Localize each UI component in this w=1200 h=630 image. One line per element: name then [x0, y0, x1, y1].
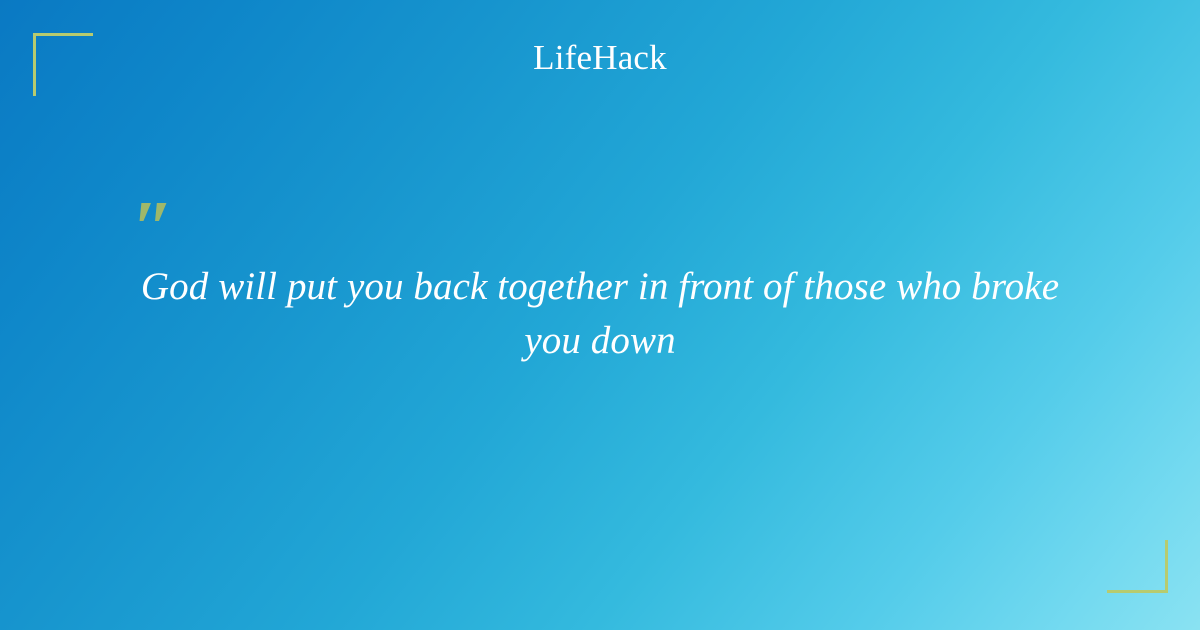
quote-text: God will put you back together in front … — [100, 260, 1100, 368]
corner-bracket-right-line — [1165, 540, 1168, 593]
corner-bracket-top-line — [33, 33, 93, 36]
quotation-mark-icon: ″ — [132, 190, 1100, 248]
brand-header: LifeHack — [0, 40, 1200, 75]
corner-bracket-bottom-right-icon — [1107, 540, 1168, 593]
corner-bracket-bottom-line — [1107, 590, 1168, 593]
quote-card: LifeHack ″ God will put you back togethe… — [0, 0, 1200, 630]
brand-logo-lifehack: LifeHack — [533, 40, 667, 75]
quote-block: ″ God will put you back together in fron… — [100, 190, 1100, 368]
